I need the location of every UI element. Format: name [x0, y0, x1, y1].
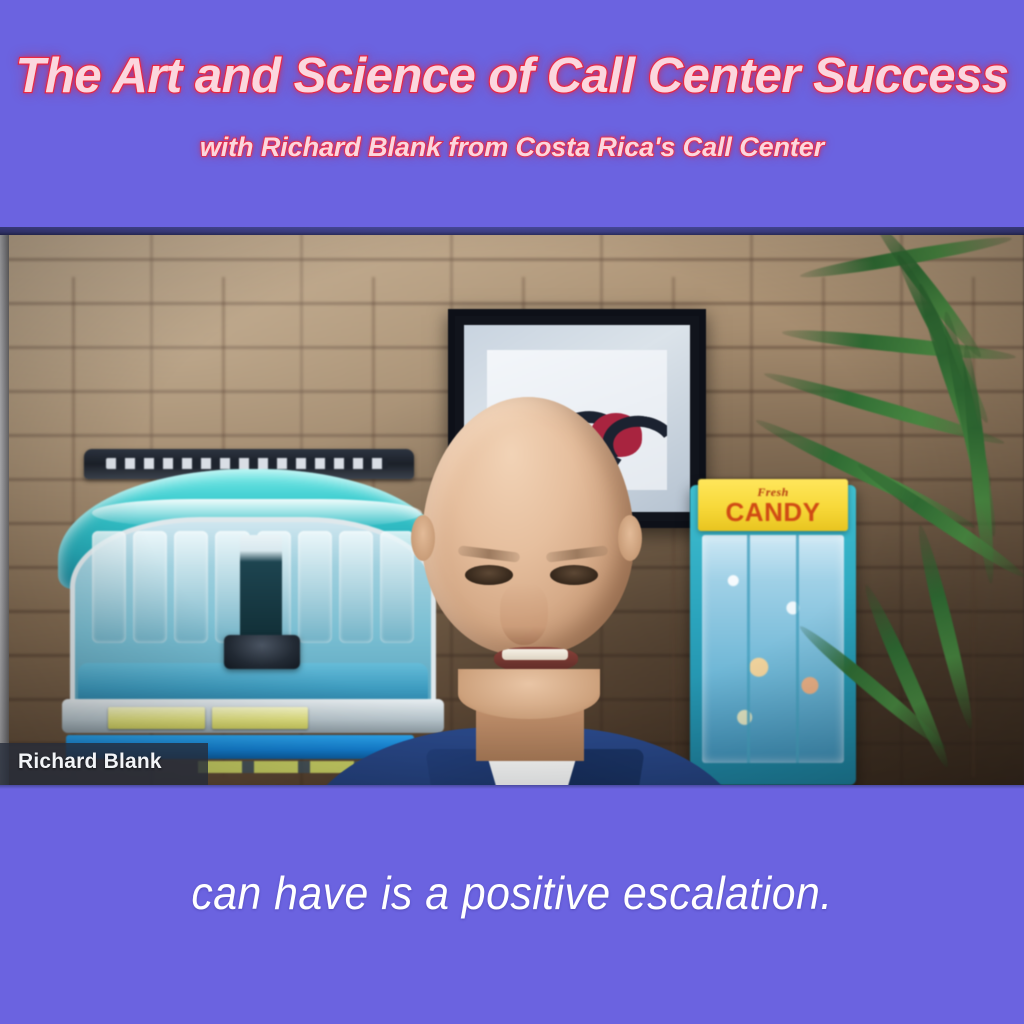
speaker-name-tag: Richard Blank	[0, 743, 208, 785]
person-chin	[458, 669, 600, 719]
person-eye-right	[550, 565, 598, 585]
person-ear-right	[618, 515, 642, 561]
jukebox-selector-button	[108, 707, 205, 729]
person-nose	[500, 583, 548, 645]
jukebox-grill-bar	[133, 531, 167, 643]
jukebox-record-column	[240, 535, 282, 647]
person-teeth	[502, 649, 568, 660]
palm-frond	[854, 458, 1024, 582]
palm-plant	[770, 227, 1024, 785]
page-title: The Art and Science of Call Center Succe…	[0, 52, 1024, 101]
palm-frond	[781, 325, 1016, 364]
jukebox-mechanism	[224, 635, 300, 669]
page-subtitle: with Richard Blank from Costa Rica's Cal…	[0, 134, 1024, 161]
video-thumbnail-stage: The Art and Science of Call Center Succe…	[0, 0, 1024, 1024]
header-band: The Art and Science of Call Center Succe…	[0, 0, 1024, 227]
jukebox-grill-bar	[92, 531, 126, 643]
palm-frond	[795, 621, 950, 755]
speaker-person	[318, 397, 730, 785]
video-player-pane[interactable]: Fresh CANDY	[0, 227, 1024, 785]
person-ear-left	[411, 515, 435, 561]
caption-text: can have is a positive escalation.	[36, 870, 988, 916]
caption-band: can have is a positive escalation.	[0, 785, 1024, 1024]
video-left-edge-strip	[0, 227, 9, 785]
video-top-edge-strip	[0, 227, 1024, 235]
speaker-name-label: Richard Blank	[18, 750, 162, 773]
jukebox-selector-buttons	[108, 707, 308, 729]
jukebox-selector-button	[212, 707, 309, 729]
person-eye-left	[465, 565, 513, 585]
jukebox-grill-bar	[174, 531, 208, 643]
caption-top-divider	[0, 785, 1024, 789]
